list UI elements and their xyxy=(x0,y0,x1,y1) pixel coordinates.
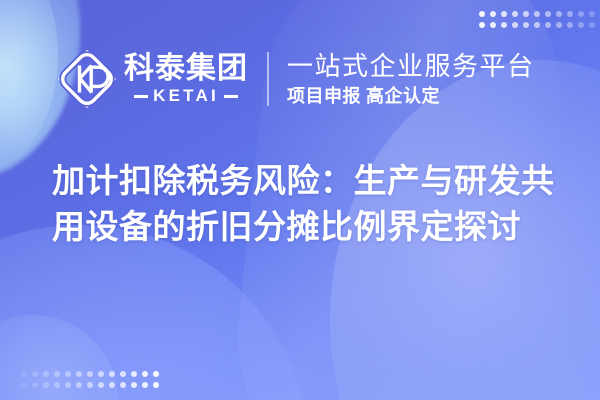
rule-left-icon xyxy=(134,95,148,98)
dot-icon xyxy=(131,371,137,377)
dot-icon xyxy=(523,22,529,28)
dot-icon xyxy=(43,371,49,377)
dot-icon xyxy=(65,371,71,377)
banner-header: 科泰集团 KETAI 一站式企业服务平台 项目申报 高企认定 xyxy=(0,40,600,118)
ketai-diamond-monogram-icon xyxy=(57,49,117,109)
dot-icon xyxy=(153,382,159,388)
brand-logo[interactable]: 科泰集团 KETAI xyxy=(57,49,248,109)
brand-name-en-row: KETAI xyxy=(124,87,248,105)
dot-icon xyxy=(98,382,104,388)
dot-icon xyxy=(142,371,148,377)
dot-icon xyxy=(109,382,115,388)
tagline-secondary: 项目申报 高企认定 xyxy=(287,84,535,108)
dot-row xyxy=(479,22,600,28)
dot-icon xyxy=(523,11,529,17)
dot-icon xyxy=(567,11,573,17)
header-divider xyxy=(267,52,269,106)
dot-row xyxy=(479,11,600,17)
dot-icon xyxy=(589,11,595,17)
dot-icon xyxy=(21,371,27,377)
dot-icon xyxy=(512,22,518,28)
dot-icon xyxy=(142,382,148,388)
dot-icon xyxy=(120,382,126,388)
dot-icon xyxy=(32,371,38,377)
banner-title: 加计扣除税务风险：生产与研发共用设备的折旧分摊比例界定探讨 xyxy=(52,158,564,250)
rule-right-icon xyxy=(224,95,238,98)
dot-icon xyxy=(545,22,551,28)
dot-icon xyxy=(54,382,60,388)
dot-icon xyxy=(512,11,518,17)
dot-icon xyxy=(120,371,126,377)
brand-wordmark: 科泰集团 KETAI xyxy=(124,53,248,105)
brand-name-en: KETAI xyxy=(153,87,219,105)
dot-icon xyxy=(479,22,485,28)
dot-grid-bottom-left xyxy=(21,371,159,388)
dot-icon xyxy=(87,371,93,377)
tagline-primary: 一站式企业服务平台 xyxy=(287,51,535,81)
dot-icon xyxy=(54,371,60,377)
dot-icon xyxy=(479,11,485,17)
dot-grid-top-right xyxy=(479,11,600,28)
dot-row xyxy=(21,371,159,377)
dot-icon xyxy=(545,11,551,17)
dot-icon xyxy=(578,22,584,28)
dot-icon xyxy=(131,382,137,388)
dot-icon xyxy=(589,22,595,28)
dot-icon xyxy=(567,22,573,28)
dot-icon xyxy=(43,382,49,388)
dot-row xyxy=(21,382,159,388)
dot-icon xyxy=(490,22,496,28)
dot-icon xyxy=(501,22,507,28)
promotional-banner: 科泰集团 KETAI 一站式企业服务平台 项目申报 高企认定 加计扣除税务风险：… xyxy=(0,0,600,400)
dot-icon xyxy=(534,22,540,28)
dot-icon xyxy=(98,371,104,377)
dot-icon xyxy=(556,22,562,28)
brand-name-cn: 科泰集团 xyxy=(124,53,248,85)
dot-icon xyxy=(32,382,38,388)
dot-icon xyxy=(76,371,82,377)
dot-icon xyxy=(501,11,507,17)
dot-icon xyxy=(76,382,82,388)
dot-icon xyxy=(556,11,562,17)
dot-icon xyxy=(534,11,540,17)
dot-icon xyxy=(65,382,71,388)
dot-icon xyxy=(153,371,159,377)
dot-icon xyxy=(578,11,584,17)
dot-icon xyxy=(109,371,115,377)
dot-icon xyxy=(87,382,93,388)
dot-icon xyxy=(21,382,27,388)
tagline-block: 一站式企业服务平台 项目申报 高企认定 xyxy=(287,51,535,108)
dot-icon xyxy=(490,11,496,17)
